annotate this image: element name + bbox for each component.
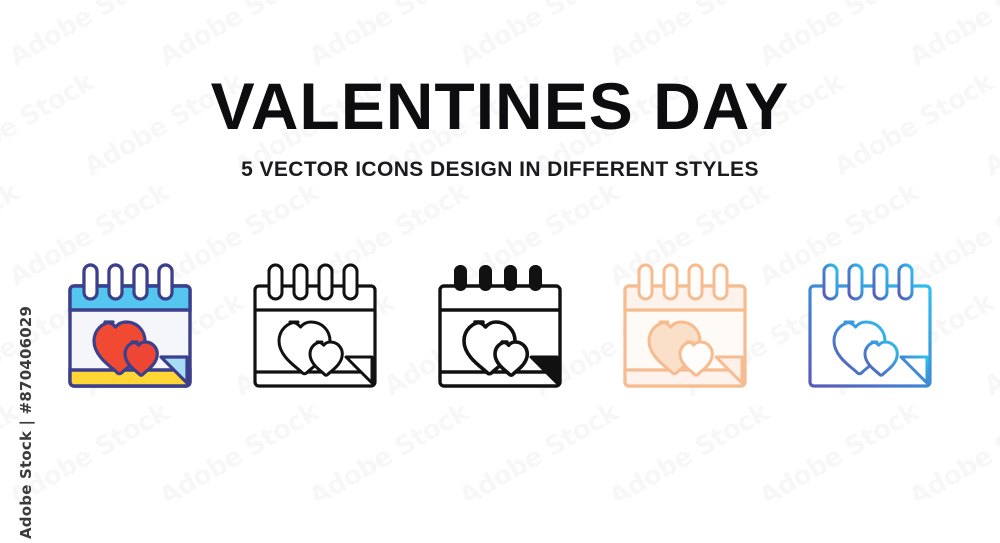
credit-bar: Adobe Stock | #870406029 xyxy=(0,0,36,500)
icon-showcase-row xyxy=(0,252,1000,412)
page-title: VALENTINES DAY xyxy=(0,0,1000,140)
icon-cell-gradient[interactable] xyxy=(800,252,940,402)
watermark-text: Adobe Stock xyxy=(754,397,923,500)
valentines-day-calendar-flat-color-icon[interactable] xyxy=(65,257,195,397)
page-subtitle: 5 VECTOR ICONS DESIGN IN DIFFERENT STYLE… xyxy=(0,140,1000,182)
valentines-day-calendar-gradient-icon[interactable] xyxy=(805,257,935,397)
icon-cell-duotone[interactable] xyxy=(615,252,755,402)
valentines-day-calendar-duotone-icon[interactable] xyxy=(620,257,750,397)
watermark-text: Adobe Stock xyxy=(454,397,623,500)
valentines-day-calendar-glyph-icon[interactable] xyxy=(435,257,565,397)
watermark-text: Adobe Stock xyxy=(154,397,323,500)
watermark-text: Adobe Stock xyxy=(304,397,473,500)
watermark-text: Adobe Stock xyxy=(904,397,1000,500)
calendar-bottom-band xyxy=(70,370,190,386)
icon-cell-flat-color[interactable] xyxy=(60,252,200,402)
watermark-text: Adobe Stock xyxy=(604,397,773,500)
header: VALENTINES DAY 5 VECTOR ICONS DESIGN IN … xyxy=(0,0,1000,182)
adobe-stock-credit-text: Adobe Stock | #870406029 xyxy=(17,99,35,543)
icon-cell-glyph[interactable] xyxy=(430,252,570,402)
calendar-bottom-band xyxy=(625,370,745,386)
icon-cell-line[interactable] xyxy=(245,252,385,402)
valentines-day-calendar-line-icon[interactable] xyxy=(250,257,380,397)
